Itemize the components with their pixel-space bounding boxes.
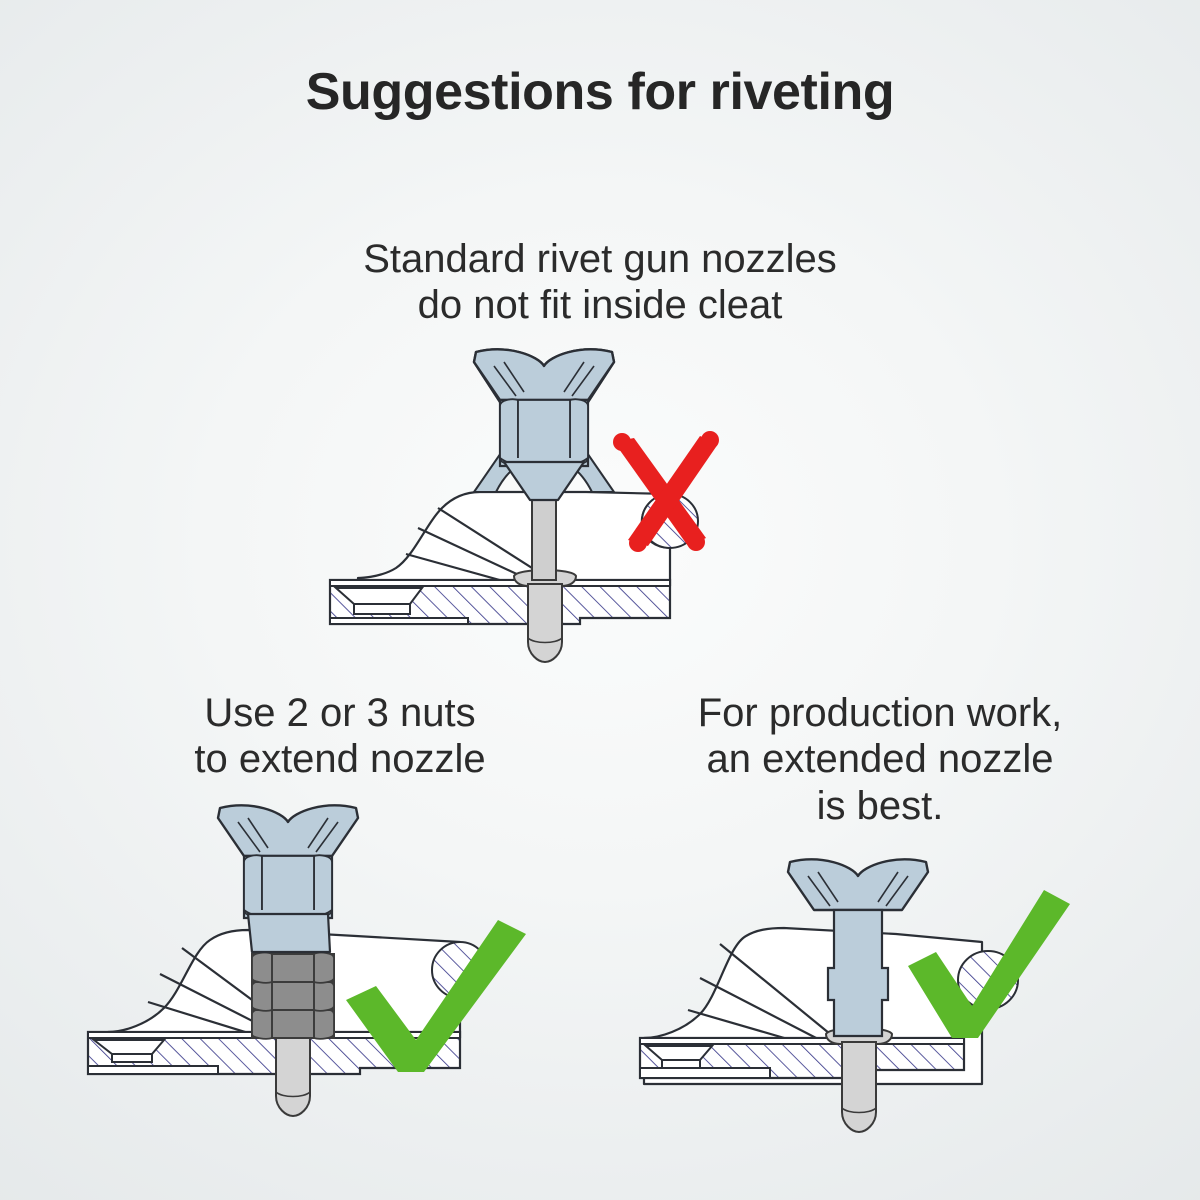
svg-extended-nozzle (630, 856, 1060, 1156)
diagram-extended-nozzle (630, 856, 1060, 1156)
nut-1 (252, 953, 334, 983)
caption-bottom-left-panel: Use 2 or 3 nuts to extend nozzle (60, 690, 620, 783)
nut-2 (252, 981, 334, 1011)
rivet-gun-nozzle (474, 349, 614, 500)
caption-bottom-right-panel: For production work, an extended nozzle … (600, 690, 1160, 829)
diagram-standard-nozzle (318, 342, 778, 682)
page-title: Suggestions for riveting (0, 62, 1200, 122)
caption-top-panel: Standard rivet gun nozzles do not fit in… (200, 236, 1000, 329)
nut-3 (252, 1009, 334, 1039)
mandrel-stem (532, 488, 556, 580)
svg-standard-nozzle (318, 342, 778, 682)
svg-nozzle-with-nuts (108, 800, 548, 1130)
diagram-nozzle-with-nuts (108, 800, 548, 1130)
base-plate-cross-section (330, 580, 670, 624)
extension-nuts (252, 953, 334, 1039)
illustration-stage: Suggestions for riveting Standard rivet … (0, 0, 1200, 1200)
